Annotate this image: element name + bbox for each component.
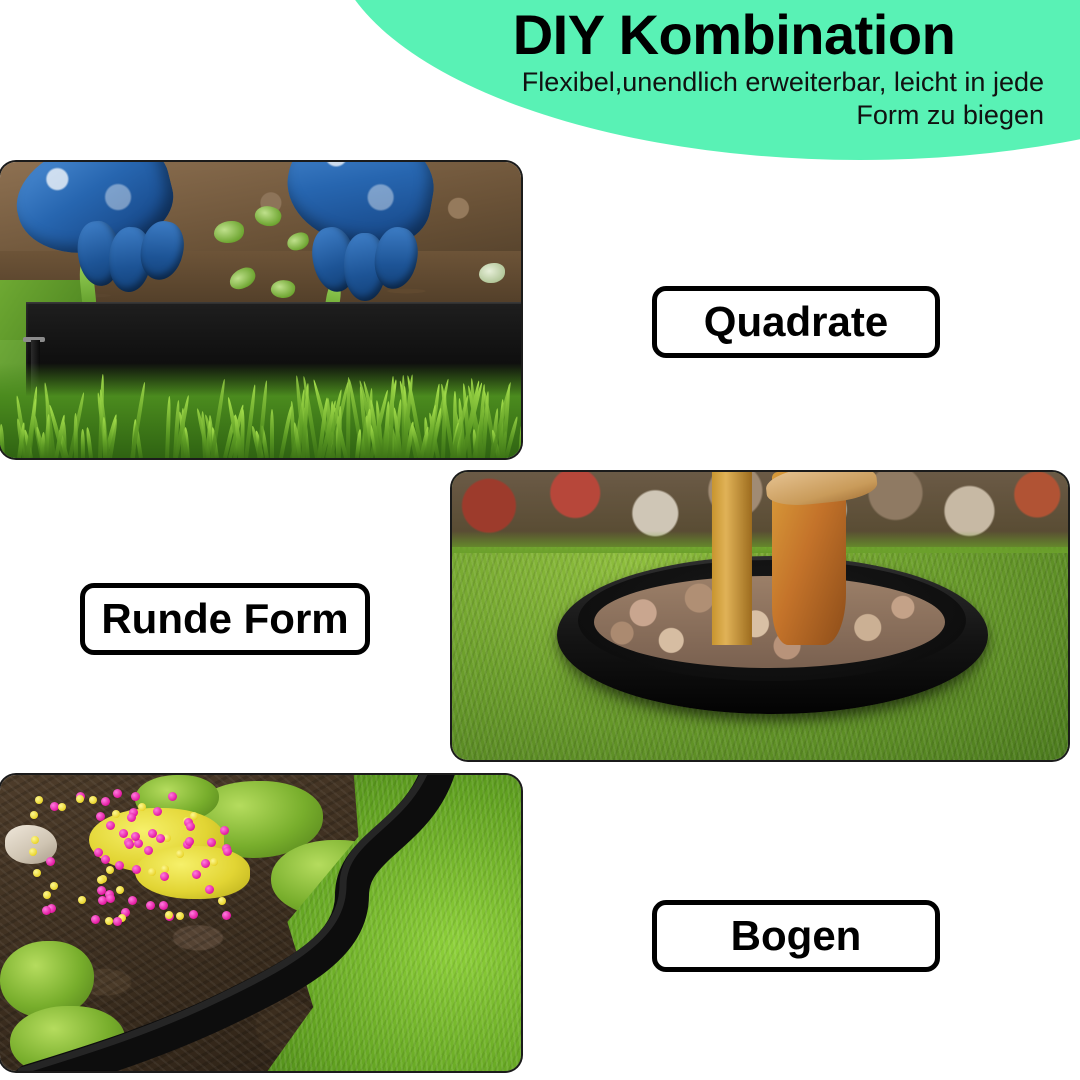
tree-ring-photo [452, 472, 1068, 760]
pebble-fill [594, 576, 945, 668]
grass-blade [73, 413, 77, 458]
shape-label-runde-form[interactable]: Runde Form [80, 583, 370, 655]
header-subtitle-line-1: Flexibel,unendlich erweiterbar, leicht i… [424, 66, 1044, 99]
infographic-page: DIY Kombination Flexibel,unendlich erwei… [0, 0, 1080, 1080]
page-title: DIY Kombination [424, 4, 1044, 66]
shape-label-bogen[interactable]: Bogen [652, 900, 940, 972]
shape-label-text: Bogen [731, 912, 862, 960]
rock-border [452, 472, 1068, 547]
curved-black-edging [0, 775, 521, 1071]
header-subtitle-line-2: Form zu biegen [424, 99, 1044, 132]
header-text-block: DIY Kombination Flexibel,unendlich erwei… [424, 4, 1044, 132]
wooden-post [712, 472, 752, 645]
shape-label-quadrate[interactable]: Quadrate [652, 286, 940, 358]
planting-bed-photo [0, 162, 521, 458]
shape-label-text: Runde Form [101, 595, 348, 643]
shape-label-text: Quadrate [704, 298, 888, 346]
grass-blade [80, 429, 84, 458]
curved-border-photo [0, 775, 521, 1071]
grass-blade [270, 409, 274, 458]
